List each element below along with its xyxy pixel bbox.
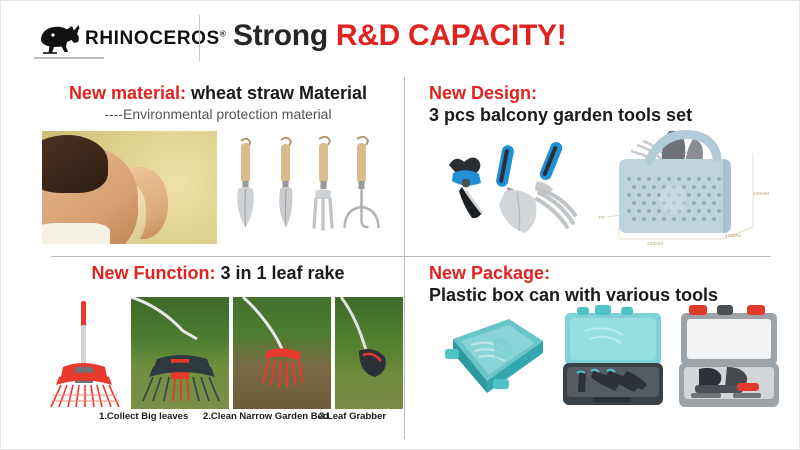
panel-new-package: New Package: Plastic box can with variou…	[429, 263, 791, 438]
panel-new-material: New material: wheat straw Material ----E…	[37, 83, 399, 251]
panel-new-design: New Design: 3 pcs balcony garden tools s…	[429, 83, 791, 251]
rake-caption-row: 1.Collect Big leaves 2.Clean Narrow Gard…	[37, 411, 399, 427]
new-material-subheading: ----Environmental protection material	[37, 106, 399, 122]
slide-canvas: RHINOCEROS® Strong R&D CAPACITY! New mat…	[0, 0, 800, 450]
rake-use-photo-1	[131, 297, 229, 409]
title-highlight: R&D CAPACITY!	[336, 19, 567, 52]
brand-name: RHINOCEROS®	[85, 28, 226, 50]
open-teal-tool-case-photo	[557, 301, 669, 411]
new-package-heading-red: New Package:	[429, 263, 791, 284]
trademark-symbol: ®	[220, 30, 227, 39]
rake-illustration	[41, 297, 127, 409]
horizontal-divider	[51, 256, 771, 257]
vertical-divider	[404, 77, 405, 439]
rake-use-photo-2	[233, 297, 331, 409]
open-gray-case-illustration	[673, 301, 785, 411]
four-tools-illustration	[223, 131, 395, 244]
photo-shirt-shape	[42, 223, 110, 244]
plastic-basket-caddy-photo: 240MM 240MM 105MM PP	[577, 123, 789, 251]
closed-case-illustration	[435, 305, 553, 409]
new-material-heading-dark: wheat straw Material	[186, 83, 367, 103]
new-material-heading: New material: wheat straw Material	[37, 83, 399, 104]
title-prefix: Strong	[233, 19, 336, 52]
rake-scene-2	[233, 297, 331, 409]
rake-caption-2: 2.Clean Narrow Garden Bed	[203, 411, 329, 422]
slide-header: RHINOCEROS® Strong R&D CAPACITY!	[1, 1, 800, 73]
basket-width-dimension: 240MM	[647, 241, 663, 246]
page-title: Strong R&D CAPACITY!	[233, 19, 566, 53]
open-teal-case-illustration	[557, 301, 669, 411]
basket-height-dimension: 240MM	[753, 191, 769, 196]
rake-caption-3: 3.Leaf Grabber	[319, 411, 386, 422]
basket-material-label: PP	[599, 215, 606, 220]
logo-underline	[34, 57, 104, 59]
rake-scene-1	[131, 297, 229, 409]
open-gray-tool-case-photo	[673, 301, 785, 411]
new-material-heading-red: New material:	[69, 83, 186, 103]
new-design-heading-red: New Design:	[429, 83, 791, 104]
panel-new-function: New Function: 3 in 1 leaf rake	[37, 263, 399, 438]
wheat-straw-smell-photo	[42, 131, 217, 244]
brand-logo: RHINOCEROS®	[33, 19, 199, 61]
new-function-heading-red: New Function:	[91, 263, 215, 283]
rake-scene-3	[335, 297, 403, 409]
closed-teal-tool-case-photo	[435, 305, 553, 409]
leaf-rake-product-photo	[41, 297, 127, 409]
basket-depth-dimension: 105MM	[725, 233, 741, 238]
rake-caption-1: 1.Collect Big leaves	[99, 411, 188, 422]
rhinoceros-logo-icon	[33, 19, 87, 59]
photo-hair-shape	[42, 135, 108, 193]
four-garden-tools-photo	[223, 131, 395, 244]
new-function-heading-dark: 3 in 1 leaf rake	[215, 263, 344, 283]
rake-use-photo-3	[335, 297, 403, 409]
basket-illustration	[577, 123, 789, 251]
header-divider	[199, 15, 200, 61]
new-function-heading: New Function: 3 in 1 leaf rake	[37, 263, 399, 284]
